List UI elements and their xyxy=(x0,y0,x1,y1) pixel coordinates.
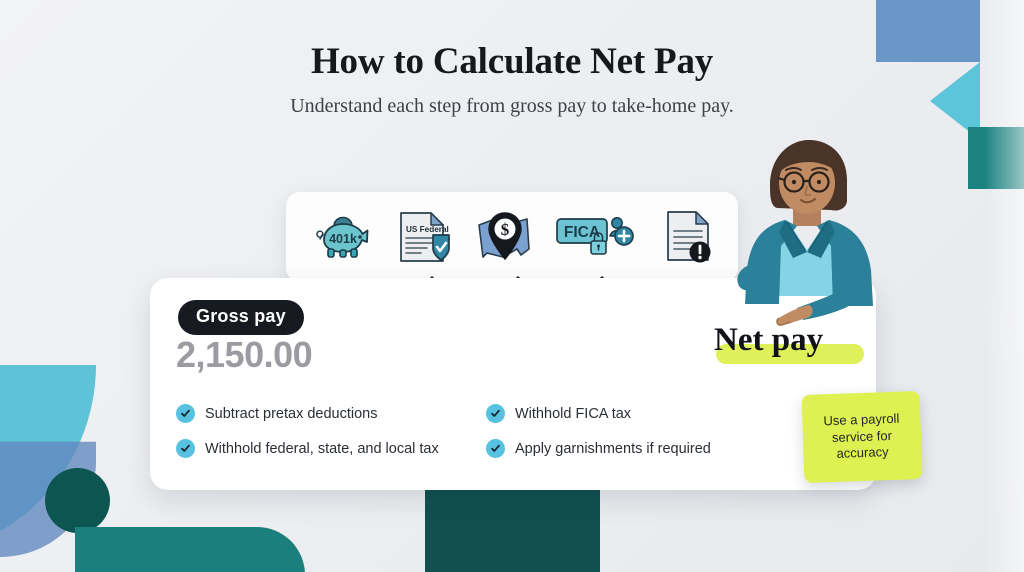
page-subtitle: Understand each step from gross pay to t… xyxy=(0,95,1024,118)
decor-dark-teal-rectangle xyxy=(425,490,600,572)
payroll-specialist-illustration xyxy=(735,128,895,328)
list-item-label: Withhold federal, state, and local tax xyxy=(205,441,439,457)
infographic-canvas: How to Calculate Net Pay Understand each… xyxy=(0,0,1024,572)
check-icon xyxy=(176,404,195,423)
list-item-label: Apply garnishments if required xyxy=(515,441,711,457)
gross-pay-badge: Gross pay xyxy=(178,300,304,335)
steps-checklist: Subtract pretax deductions Withhold FICA… xyxy=(176,404,776,458)
list-item: Apply garnishments if required xyxy=(486,439,766,458)
decor-dark-teal-circle xyxy=(45,468,110,533)
list-item: Withhold federal, state, and local tax xyxy=(176,439,486,458)
gross-pay-amount: 2,150.00 xyxy=(176,334,312,376)
list-item-label: Withhold FICA tax xyxy=(515,406,631,422)
list-item: Subtract pretax deductions xyxy=(176,404,486,423)
decor-teal-bar xyxy=(75,527,305,572)
sticky-note: Use a payroll service for accuracy xyxy=(802,391,923,483)
sticky-note-text: Use a payroll service for accuracy xyxy=(802,410,922,464)
page-title: How to Calculate Net Pay xyxy=(0,40,1024,83)
header: How to Calculate Net Pay Understand each… xyxy=(0,40,1024,118)
check-icon xyxy=(486,404,505,423)
list-item-label: Subtract pretax deductions xyxy=(205,406,378,422)
check-icon xyxy=(176,439,195,458)
list-item: Withhold FICA tax xyxy=(486,404,766,423)
check-icon xyxy=(486,439,505,458)
